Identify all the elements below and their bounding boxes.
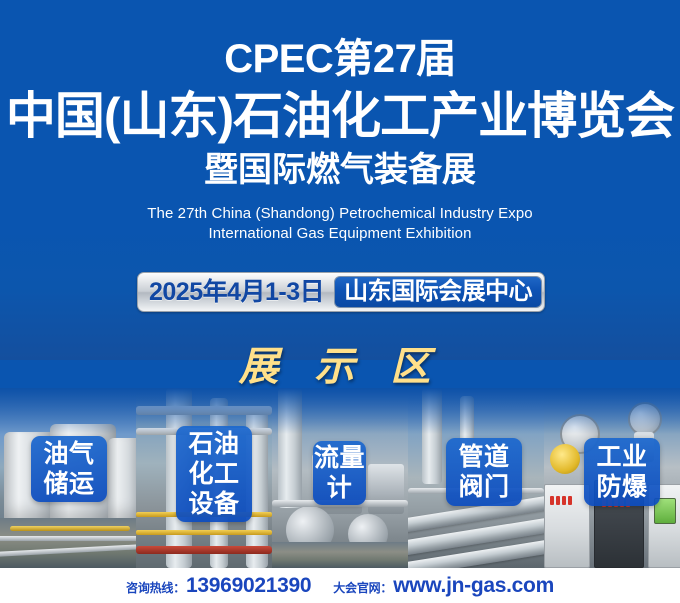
- poster-footer: 咨询热线： 13969021390 大会官网： www.jn-gas.com: [0, 568, 680, 603]
- category-line-1: 流量: [314, 443, 365, 473]
- category-line-1: 管道: [458, 442, 509, 472]
- category-line-2: 阀门: [458, 472, 509, 502]
- category-label-oil-gas-storage[interactable]: 油气 储运: [31, 436, 107, 502]
- hotline-label: 咨询热线：: [126, 579, 185, 596]
- category-label-pipeline-valve[interactable]: 管道 阀门: [446, 438, 522, 506]
- title-line-1: CPEC第27届: [0, 37, 680, 81]
- title-line-3: 暨国际燃气装备展: [0, 150, 680, 190]
- category-line-2: 防爆: [596, 472, 647, 502]
- category-label-flow-meter[interactable]: 流量 计: [313, 441, 366, 505]
- category-line-3: 设备: [188, 489, 239, 519]
- category-label-explosion-proof[interactable]: 工业 防爆: [584, 438, 660, 506]
- category-line-2: 化工: [188, 459, 239, 489]
- category-line-1: 石油: [188, 429, 239, 459]
- venue-badge: 山东国际会展中心: [334, 276, 542, 308]
- category-line-1: 油气: [43, 439, 94, 469]
- category-line-2: 储运: [43, 469, 94, 499]
- title-line-2: 中国(山东)石油化工产业博览会: [0, 88, 680, 144]
- category-line-1: 工业: [596, 442, 647, 472]
- date-venue-bar: 2025年4月1-3日 山东国际会展中心: [137, 272, 545, 312]
- venue-name: 山东国际会展中心: [344, 278, 532, 306]
- english-title-line-1: The 27th China (Shandong) Petrochemical …: [0, 204, 680, 223]
- event-date: 2025年4月1-3日: [149, 277, 324, 307]
- category-label-petrochemical-equipment[interactable]: 石油 化工 设备: [176, 426, 252, 522]
- hotline-block: 咨询热线： 13969021390: [126, 574, 311, 598]
- website-block[interactable]: 大会官网： www.jn-gas.com: [333, 574, 554, 598]
- english-title-line-2: International Gas Equipment Exhibition: [0, 224, 680, 243]
- hotline-number: 13969021390: [186, 574, 311, 598]
- category-line-2: 计: [327, 473, 353, 503]
- website-url[interactable]: www.jn-gas.com: [393, 574, 554, 598]
- website-label: 大会官网：: [333, 579, 392, 596]
- expo-poster: CPEC第27届 中国(山东)石油化工产业博览会 暨国际燃气装备展 The 27…: [0, 0, 680, 603]
